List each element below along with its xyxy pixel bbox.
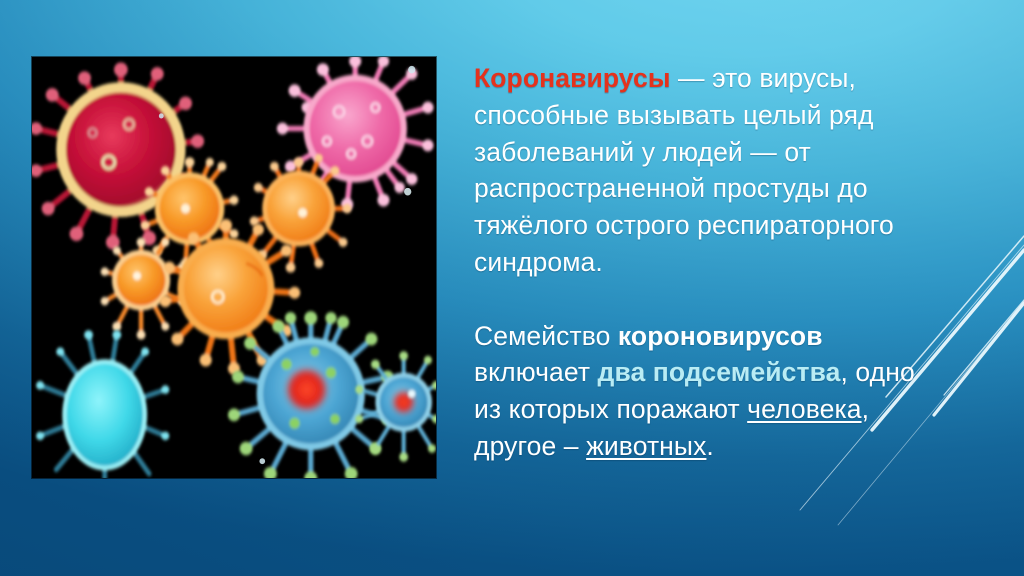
paragraph-definition-body: — это вирусы, способные вызывать целый р…: [474, 63, 894, 277]
coronavirus-particles-photo: [32, 57, 436, 478]
paragraph-definition: Коронавирусы — это вирусы, способные выз…: [474, 60, 944, 281]
underlined-animals: животных: [586, 431, 706, 461]
streak-line-thin-right: [944, 300, 1024, 395]
subfamilies-lead: Семейство: [474, 321, 618, 351]
underlined-human: человека: [747, 394, 861, 424]
subfamilies-middle-1: включает: [474, 357, 598, 387]
paragraph-subfamilies: Семейство короновирусов включает два под…: [474, 318, 944, 465]
slide-text-column: Коронавирусы — это вирусы, способные выз…: [474, 60, 944, 465]
keyword-coronaviruses: Коронавирусы: [474, 63, 671, 93]
coronavirus-image-frame: [32, 57, 436, 478]
streak-line-thick-right: [934, 303, 1024, 415]
keyword-two-subfamilies: два подсемейства: [598, 357, 841, 387]
subfamilies-tail: .: [706, 431, 713, 461]
keyword-coronaviruses-family: короновирусов: [618, 321, 823, 351]
slide-root: Коронавирусы — это вирусы, способные выз…: [0, 0, 1024, 576]
